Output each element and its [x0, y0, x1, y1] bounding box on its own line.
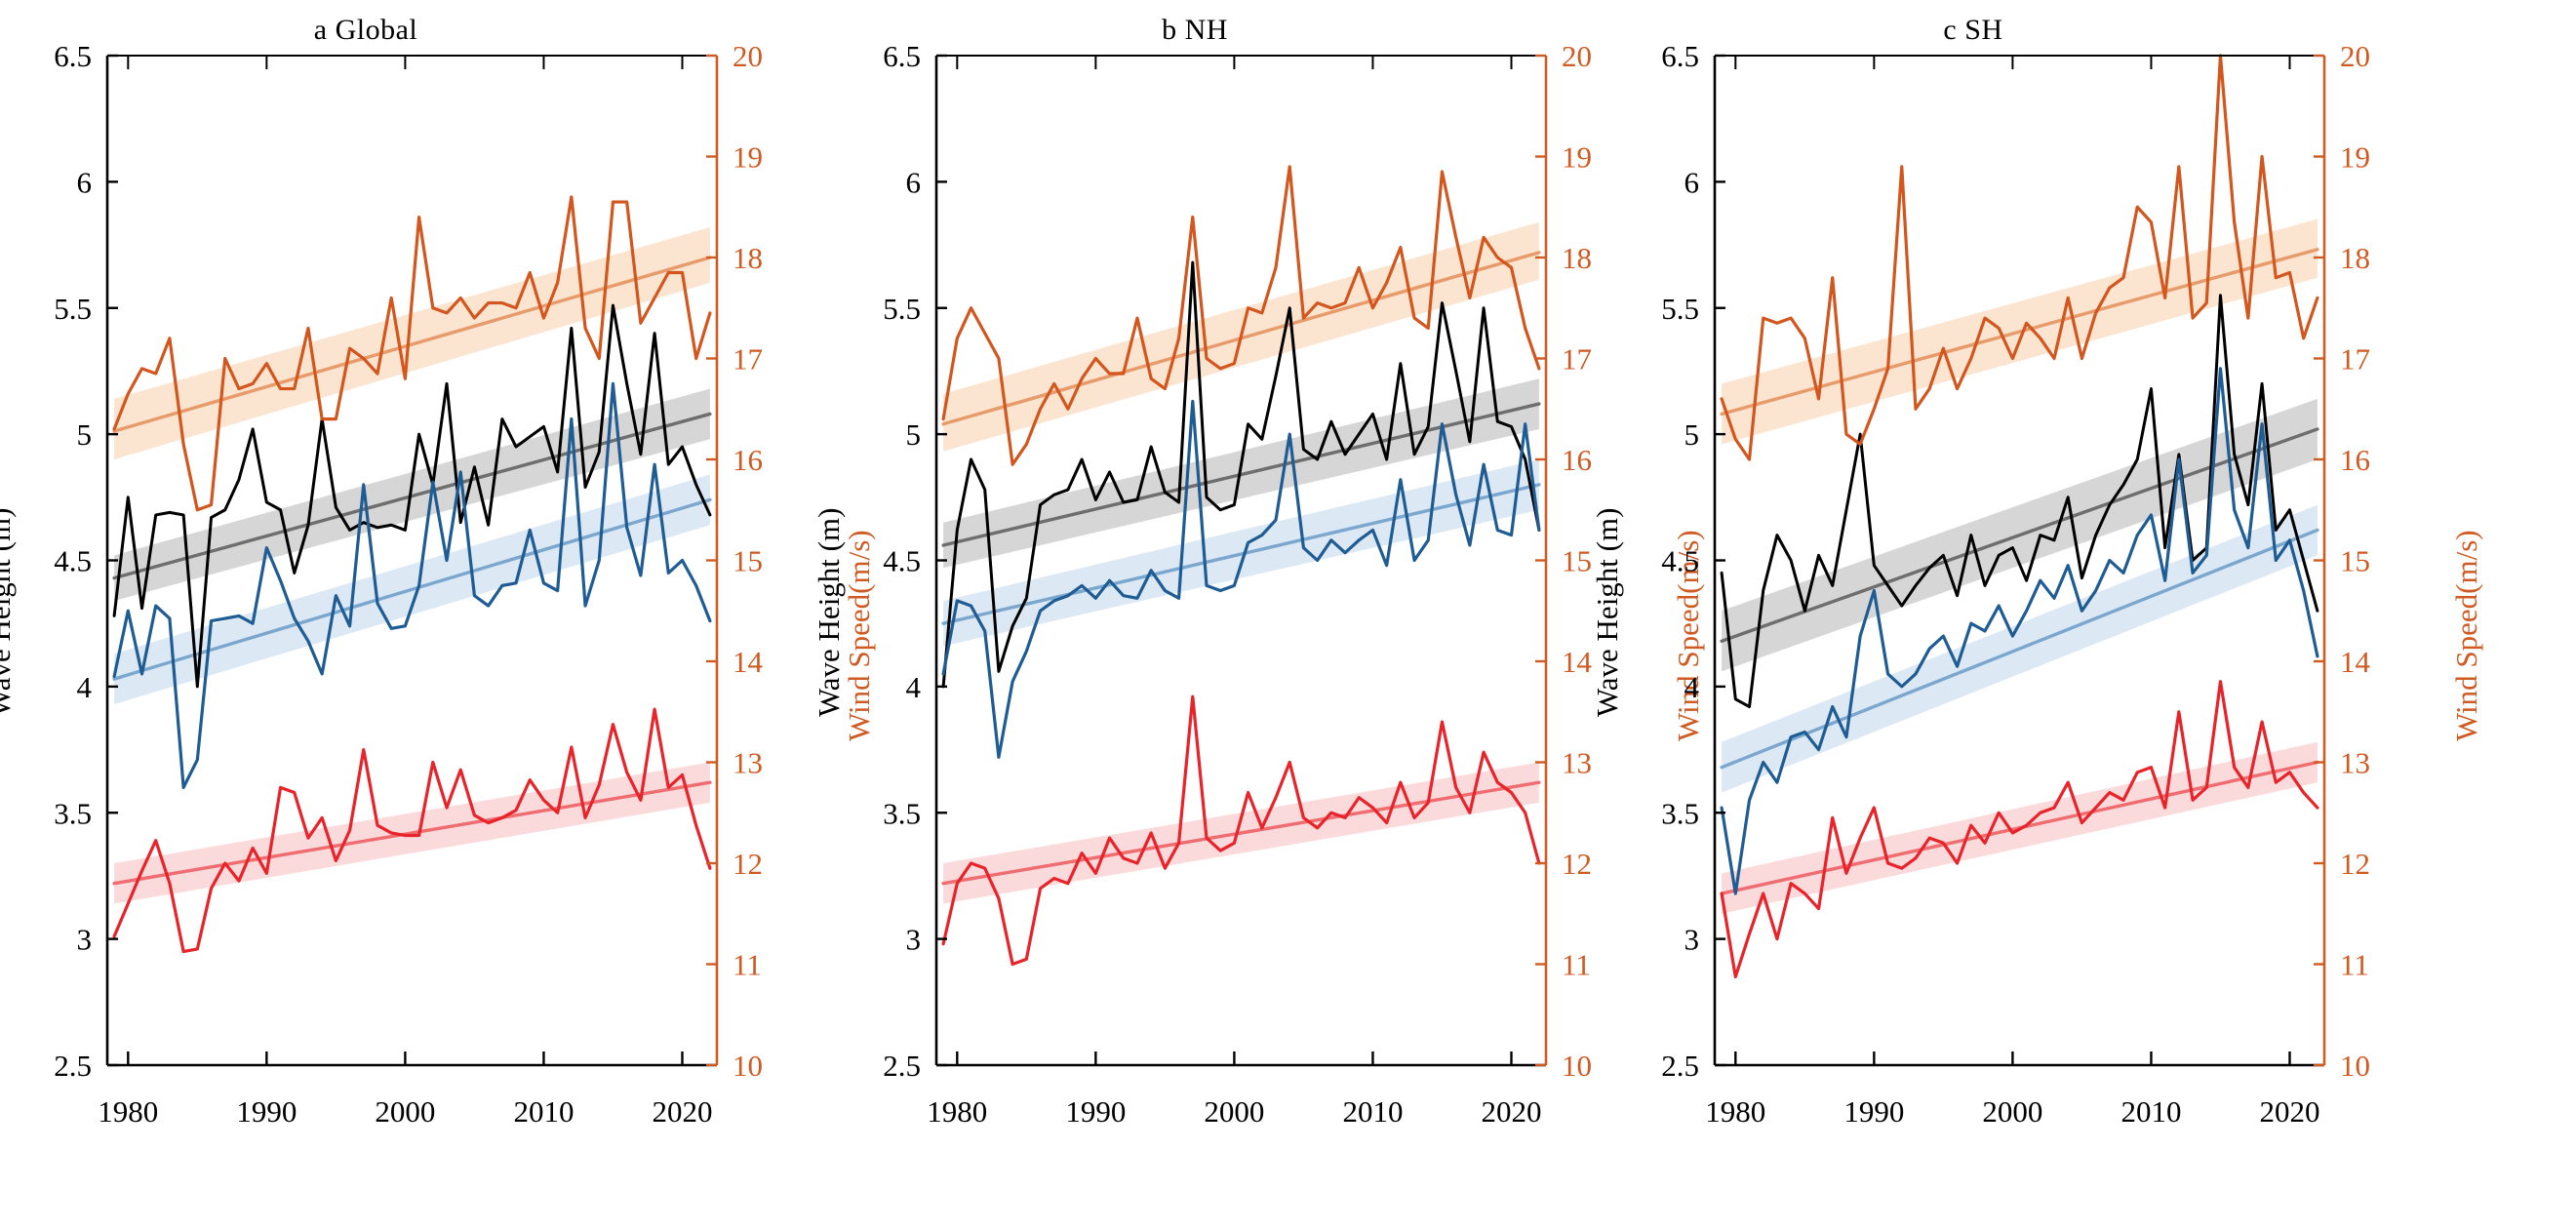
y-tick-label-right: 15 [2340, 544, 2370, 578]
x-tick-label: 2000 [1982, 1094, 2042, 1129]
y-tick-label-right: 17 [2340, 342, 2370, 377]
y-tick-label-left: 2.5 [1661, 1049, 1699, 1083]
y-tick-label-left: 4 [1684, 670, 1700, 704]
plot-area: 2.533.544.555.566.5101112131415161718192… [0, 0, 2576, 1229]
x-tick-label: 2020 [2259, 1094, 2319, 1129]
y-tick-label-right: 16 [2340, 443, 2370, 477]
y-tick-label-left: 5 [1684, 417, 1700, 452]
y-tick-label-left: 6.5 [1661, 39, 1699, 73]
figure-root: a GlobalWave Height (m)Wind Speed(m/s)2.… [0, 0, 2576, 1229]
y-tick-label-left: 5.5 [1661, 292, 1699, 326]
y-tick-label-right: 11 [2340, 948, 2369, 982]
y-tick-label-left: 6 [1684, 165, 1700, 199]
y-tick-label-left: 3 [1684, 923, 1700, 957]
x-tick-label: 1980 [1705, 1094, 1765, 1129]
y-tick-label-right: 19 [2340, 140, 2370, 175]
x-tick-label: 1990 [1843, 1094, 1904, 1129]
y-tick-label-left: 4.5 [1661, 544, 1699, 578]
x-tick-label: 2010 [2120, 1094, 2181, 1129]
y-tick-label-right: 12 [2340, 847, 2370, 881]
y-tick-label-right: 13 [2340, 746, 2370, 780]
y-tick-label-right: 10 [2340, 1049, 2370, 1083]
y-tick-label-right: 20 [2340, 39, 2370, 73]
y-tick-label-right: 14 [2340, 645, 2371, 679]
y-tick-label-right: 18 [2340, 241, 2370, 275]
y-tick-label-left: 3.5 [1661, 796, 1699, 830]
